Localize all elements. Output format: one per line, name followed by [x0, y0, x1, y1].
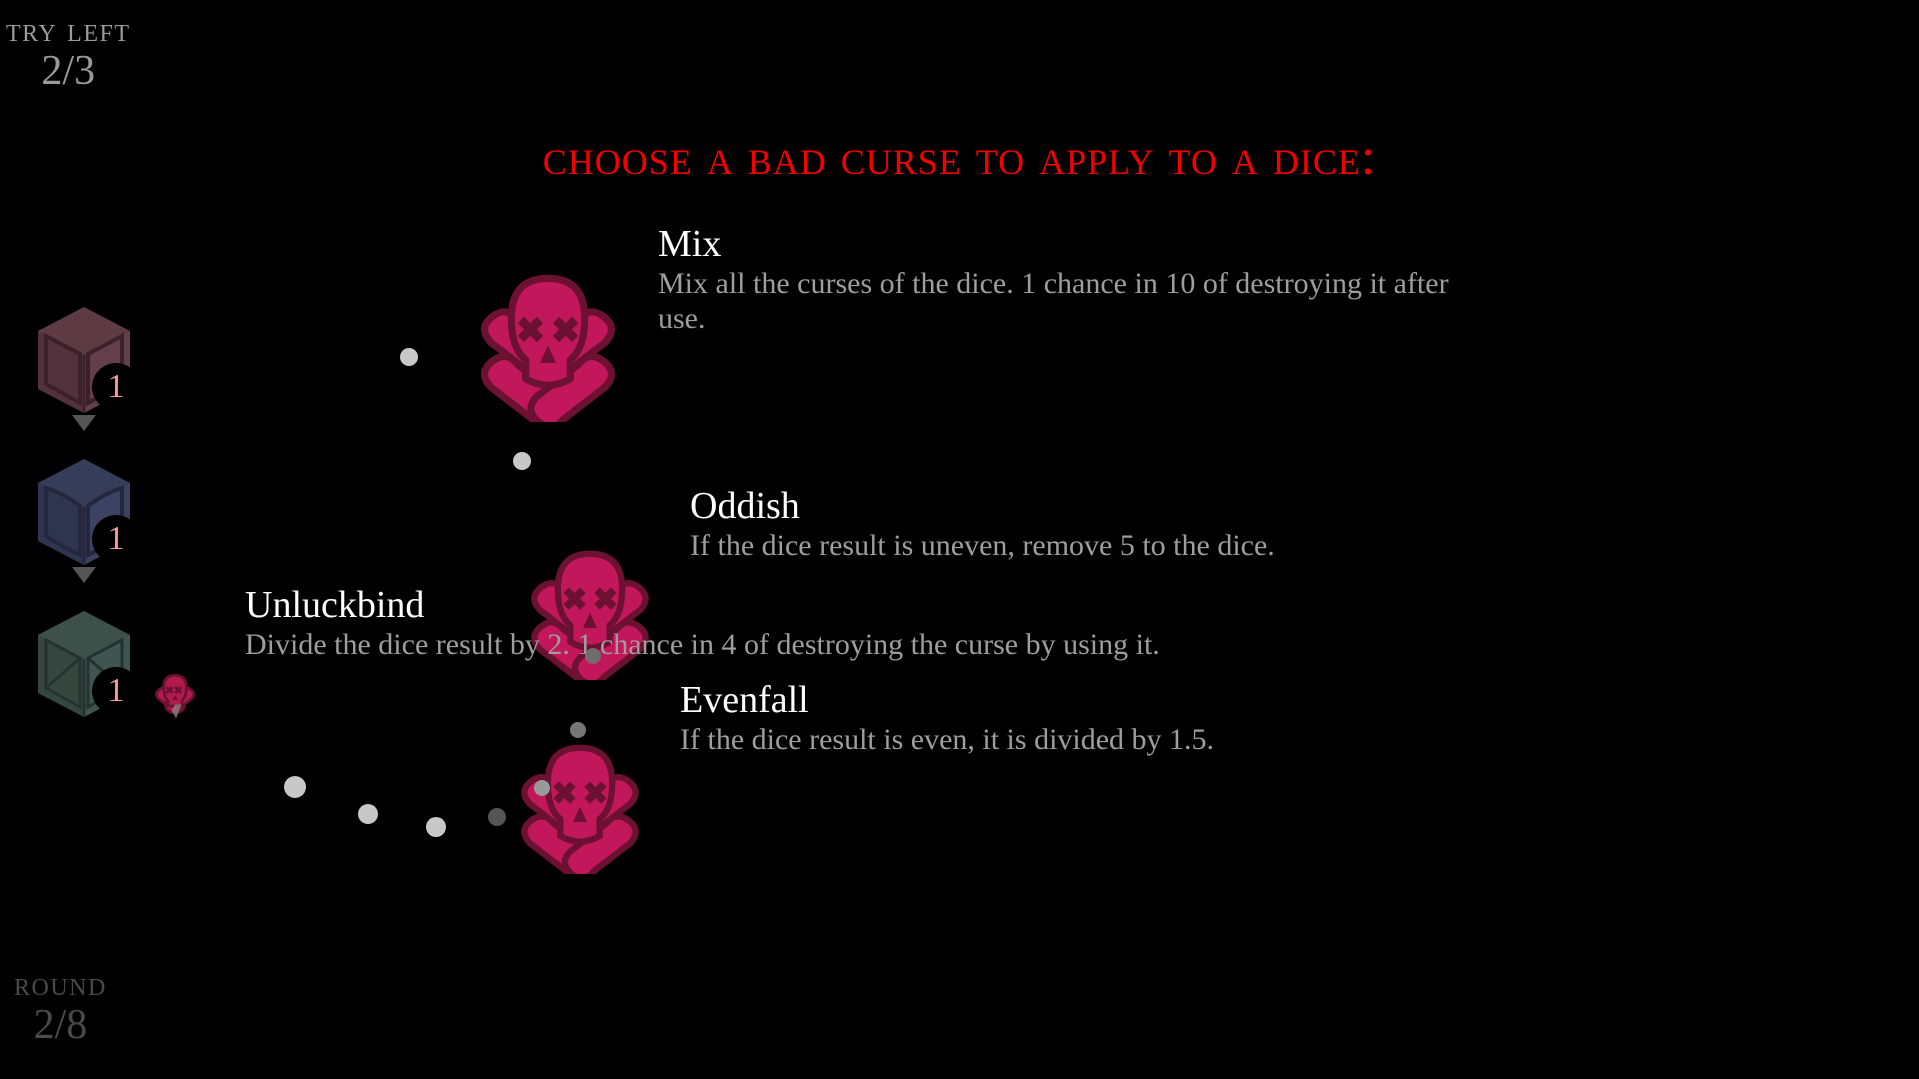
- die-slot-2[interactable]: 1: [36, 457, 206, 609]
- curse-text-block: Oddish If the dice result is uneven, rem…: [690, 486, 1510, 564]
- round-counter: Round 2/8: [14, 968, 107, 1046]
- curse-name: Oddish: [690, 486, 1510, 527]
- die-slot-3[interactable]: 1: [36, 609, 206, 749]
- chevron-down-icon-1: [72, 415, 96, 431]
- try-left-value: 2/3: [6, 50, 131, 92]
- particle: [585, 648, 601, 664]
- curse-name: Evenfall: [680, 680, 1580, 721]
- round-label: Round: [14, 968, 107, 1002]
- curse-text-block: Mix Mix all the curses of the dice. 1 ch…: [658, 224, 1458, 337]
- curse-name: Mix: [658, 224, 1458, 265]
- particle: [488, 808, 506, 826]
- dice-column: 1 1: [36, 305, 206, 749]
- curse-description: Mix all the curses of the dice. 1 chance…: [658, 267, 1458, 337]
- particle: [513, 452, 531, 470]
- curse-description: If the dice result is uneven, remove 5 t…: [690, 529, 1510, 564]
- particle: [400, 348, 418, 366]
- page-title: Choose a bad curse to apply to a dice:: [0, 128, 1919, 187]
- curse-name: Unluckbind: [245, 585, 1345, 626]
- die-badge-3: 1: [92, 667, 140, 715]
- curse-description: If the dice result is even, it is divide…: [680, 723, 1580, 758]
- skull-crossbones-icon: [468, 272, 628, 422]
- curse-text-block: Unluckbind Divide the dice result by 2. …: [245, 585, 1345, 663]
- skull-crossbones-icon: [510, 742, 650, 874]
- game-screen: Try Left 2/3 Round 2/8 Choose a bad curs…: [0, 0, 1919, 1079]
- die-badge-2: 1: [92, 515, 140, 563]
- particle: [284, 776, 306, 798]
- particle: [534, 780, 550, 796]
- chevron-down-icon-2: [72, 567, 96, 583]
- try-left-counter: Try Left 2/3: [6, 14, 131, 92]
- skull-crossbones-icon: [148, 671, 202, 725]
- try-left-label: Try Left: [6, 14, 131, 48]
- curse-description: Divide the dice result by 2. 1 chance in…: [245, 628, 1345, 663]
- round-value: 2/8: [14, 1004, 107, 1046]
- die-slot-1[interactable]: 1: [36, 305, 206, 457]
- particle: [358, 804, 378, 824]
- die-badge-1: 1: [92, 363, 140, 411]
- particle: [570, 722, 586, 738]
- curse-text-block: Evenfall If the dice result is even, it …: [680, 680, 1580, 758]
- particle: [426, 817, 446, 837]
